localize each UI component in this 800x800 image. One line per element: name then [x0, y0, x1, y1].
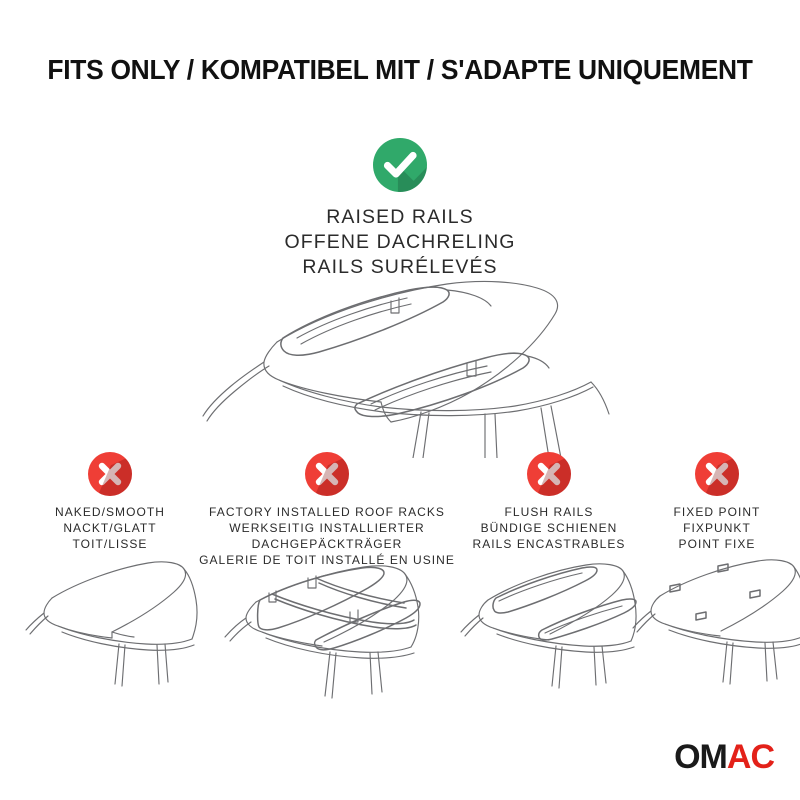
compatible-label-en: RAISED RAILS: [0, 205, 800, 230]
incompatible-labels: FIXED POINT FIXPUNKT POINT FIXE: [642, 505, 792, 553]
x-circle-icon: [527, 452, 571, 496]
check-mark-glyph: [373, 138, 427, 192]
label-line-fr: RAILS ENCASTRABLES: [456, 537, 642, 553]
incompatible-item-fixed-point: FIXED POINT FIXPUNKT POINT FIXE: [642, 452, 792, 553]
omac-logo: OMAC: [674, 740, 774, 774]
label-line-fr: POINT FIXE: [642, 537, 792, 553]
label-line-en: FLUSH RAILS: [456, 505, 642, 521]
label-line-de-2: DACHGEPÄCKTRÄGER: [198, 537, 456, 553]
label-line-de: FIXPUNKT: [642, 521, 792, 537]
compatible-section: RAISED RAILS OFFENE DACHRELING RAILS SUR…: [0, 138, 800, 280]
label-line-fr: TOIT/LISSE: [22, 537, 198, 553]
check-circle-icon: [373, 138, 427, 192]
logo-text-dark: OM: [674, 738, 727, 776]
label-line-de: BÜNDIGE SCHIENEN: [456, 521, 642, 537]
car-roof-with-raised-rails-illustration: [185, 276, 615, 458]
car-roof-with-crossbars-illustration: [212, 560, 442, 700]
x-circle-icon: [305, 452, 349, 496]
page-title: FITS ONLY / KOMPATIBEL MIT / S'ADAPTE UN…: [16, 54, 784, 86]
label-line-de-1: WERKSEITIG INSTALLIERTER: [198, 521, 456, 537]
car-roof-bare-illustration: [22, 554, 198, 694]
incompatible-item-factory-roof-racks: FACTORY INSTALLED ROOF RACKS WERKSEITIG …: [198, 452, 456, 569]
incompatible-labels: NAKED/SMOOTH NACKT/GLATT TOIT/LISSE: [22, 505, 198, 553]
label-line-de: NACKT/GLATT: [22, 521, 198, 537]
label-line-en: FACTORY INSTALLED ROOF RACKS: [198, 505, 456, 521]
car-roof-with-fixed-points-illustration: [626, 552, 800, 692]
x-circle-icon: [88, 452, 132, 496]
logo-text-red: AC: [727, 738, 774, 776]
car-roof-with-flush-rails-illustration: [456, 554, 646, 694]
incompatible-item-flush-rails: FLUSH RAILS BÜNDIGE SCHIENEN RAILS ENCAS…: [456, 452, 642, 553]
label-line-en: FIXED POINT: [642, 505, 792, 521]
incompatible-labels: FLUSH RAILS BÜNDIGE SCHIENEN RAILS ENCAS…: [456, 505, 642, 553]
compatible-label-de: OFFENE DACHRELING: [0, 230, 800, 255]
compatible-labels: RAISED RAILS OFFENE DACHRELING RAILS SUR…: [0, 205, 800, 280]
incompatible-item-naked-smooth: NAKED/SMOOTH NACKT/GLATT TOIT/LISSE: [22, 452, 198, 553]
x-circle-icon: [695, 452, 739, 496]
label-line-en: NAKED/SMOOTH: [22, 505, 198, 521]
incompatible-section: NAKED/SMOOTH NACKT/GLATT TOIT/LISSE: [0, 452, 800, 702]
